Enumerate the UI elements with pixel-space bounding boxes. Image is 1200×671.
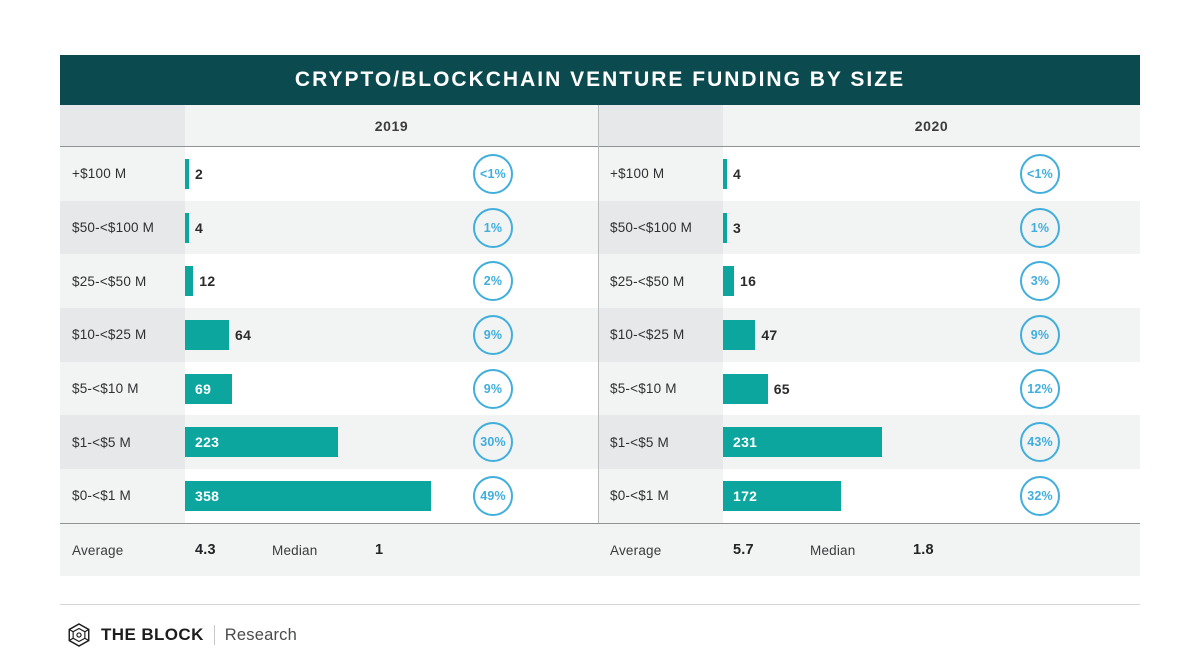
footer-divider xyxy=(60,604,1140,605)
row-label-cell: $10-<$25 M xyxy=(60,308,185,362)
row-label-cell: $1-<$5 M xyxy=(60,415,185,469)
table-row: $25-<$50 M122% xyxy=(60,254,598,308)
bar-value: 4 xyxy=(195,220,203,236)
table-row: $5-<$10 M699% xyxy=(60,362,598,416)
median-value-2020: 1.8 xyxy=(913,542,934,558)
row-label-cell: +$100 M xyxy=(598,147,723,201)
row-bar-cell: 699% xyxy=(185,362,598,416)
table-row: +$100 M4<1% xyxy=(598,147,1140,201)
row-label-cell: +$100 M xyxy=(60,147,185,201)
summary-2020: Average 5.7 Median 1.8 xyxy=(598,524,1140,576)
row-bar-cell: 6512% xyxy=(723,362,1140,416)
percentage-label: 49% xyxy=(480,489,506,503)
row-label: $25-<$50 M xyxy=(72,274,146,289)
year-header-2019: 2019 xyxy=(60,105,598,146)
percentage-label: 1% xyxy=(484,221,502,235)
bar-value: 3 xyxy=(733,220,741,236)
percentage-badge: 1% xyxy=(1020,208,1060,248)
year-label-2019: 2019 xyxy=(375,118,409,134)
percentage-label: 9% xyxy=(484,328,502,342)
table-row: $10-<$25 M649% xyxy=(60,308,598,362)
table-row: $1-<$5 M22330% xyxy=(60,415,598,469)
bar xyxy=(723,374,768,404)
table-row: $25-<$50 M163% xyxy=(598,254,1140,308)
table-row: $5-<$10 M6512% xyxy=(598,362,1140,416)
row-bar-cell: 4<1% xyxy=(723,147,1140,201)
row-bar-cell: 122% xyxy=(185,254,598,308)
hexagon-cube-icon xyxy=(66,622,92,648)
brand-name: THE BLOCK xyxy=(101,625,204,645)
row-label-cell: $1-<$5 M xyxy=(598,415,723,469)
percentage-label: 2% xyxy=(484,274,502,288)
brand-separator xyxy=(214,625,215,645)
bar xyxy=(185,266,193,296)
year-header-row: 2019 2020 xyxy=(60,105,1140,146)
percentage-badge: 32% xyxy=(1020,476,1060,516)
percentage-badge: 30% xyxy=(473,422,513,462)
row-label-cell: $50-<$100 M xyxy=(60,201,185,255)
chart-panels: +$100 M2<1%$50-<$100 M41%$25-<$50 M122%$… xyxy=(60,147,1140,523)
summary-row: Average 4.3 Median 1 Average 5.7 Median … xyxy=(60,524,1140,576)
percentage-badge: 12% xyxy=(1020,369,1060,409)
percentage-label: 3% xyxy=(1031,274,1049,288)
bar: 172 xyxy=(723,481,841,511)
summary-2019: Average 4.3 Median 1 xyxy=(60,524,598,576)
row-label-cell: $10-<$25 M xyxy=(598,308,723,362)
table-row: $50-<$100 M41% xyxy=(60,201,598,255)
bar-value: 16 xyxy=(740,273,756,289)
row-bar-cell: 163% xyxy=(723,254,1140,308)
row-label: $1-<$5 M xyxy=(72,435,131,450)
row-label: +$100 M xyxy=(72,166,126,181)
row-label: $1-<$5 M xyxy=(610,435,669,450)
table-row: $0-<$1 M17232% xyxy=(598,469,1140,523)
percentage-label: <1% xyxy=(1027,167,1053,181)
bar-value: 231 xyxy=(723,434,757,450)
brand-subtitle: Research xyxy=(225,626,297,645)
table-row: $1-<$5 M23143% xyxy=(598,415,1140,469)
row-bar-cell: 17232% xyxy=(723,469,1140,523)
bar-value: 47 xyxy=(761,327,777,343)
percentage-badge: 9% xyxy=(1020,315,1060,355)
panel-2019: +$100 M2<1%$50-<$100 M41%$25-<$50 M122%$… xyxy=(60,147,598,523)
row-label: $0-<$1 M xyxy=(72,488,131,503)
median-label-2020: Median xyxy=(810,543,855,558)
table-row: +$100 M2<1% xyxy=(60,147,598,201)
row-label-cell: $25-<$50 M xyxy=(598,254,723,308)
percentage-badge: 43% xyxy=(1020,422,1060,462)
median-value-2019: 1 xyxy=(375,542,383,558)
percentage-label: 30% xyxy=(480,435,506,449)
table-row: $50-<$100 M31% xyxy=(598,201,1140,255)
percentage-label: 9% xyxy=(1031,328,1049,342)
row-bar-cell: 2<1% xyxy=(185,147,598,201)
table-row: $0-<$1 M35849% xyxy=(60,469,598,523)
row-label: $50-<$100 M xyxy=(72,220,154,235)
page-title: CRYPTO/BLOCKCHAIN VENTURE FUNDING BY SIZ… xyxy=(295,68,905,92)
row-bar-cell: 35849% xyxy=(185,469,598,523)
table-row: $10-<$25 M479% xyxy=(598,308,1140,362)
chart-title-bar: CRYPTO/BLOCKCHAIN VENTURE FUNDING BY SIZ… xyxy=(60,55,1140,105)
percentage-label: <1% xyxy=(480,167,506,181)
year-label-2020: 2020 xyxy=(915,118,949,134)
panel-2020: +$100 M4<1%$50-<$100 M31%$25-<$50 M163%$… xyxy=(598,147,1140,523)
bar xyxy=(723,266,734,296)
panel-divider xyxy=(598,105,599,523)
row-label-cell: $0-<$1 M xyxy=(60,469,185,523)
bar-value: 69 xyxy=(185,381,211,397)
row-label: $0-<$1 M xyxy=(610,488,669,503)
percentage-label: 32% xyxy=(1027,489,1053,503)
percentage-label: 43% xyxy=(1027,435,1053,449)
row-bar-cell: 22330% xyxy=(185,415,598,469)
percentage-badge: 3% xyxy=(1020,261,1060,301)
bar xyxy=(723,213,727,243)
row-label-cell: $5-<$10 M xyxy=(598,362,723,416)
row-bar-cell: 31% xyxy=(723,201,1140,255)
bar-value: 2 xyxy=(195,166,203,182)
year-header-spacer-right xyxy=(598,105,723,146)
year-header-field-left: 2019 xyxy=(185,105,598,146)
row-label: $10-<$25 M xyxy=(610,327,684,342)
bar xyxy=(185,159,189,189)
year-header-field-right: 2020 xyxy=(723,105,1140,146)
row-label: $10-<$25 M xyxy=(72,327,146,342)
bar-value: 172 xyxy=(723,488,757,504)
year-header-spacer-left xyxy=(60,105,185,146)
bar-value: 65 xyxy=(774,381,790,397)
percentage-badge: 9% xyxy=(473,369,513,409)
row-label: $25-<$50 M xyxy=(610,274,684,289)
average-value-2019: 4.3 xyxy=(195,542,216,558)
average-label-2020: Average xyxy=(610,543,661,558)
row-label-cell: $5-<$10 M xyxy=(60,362,185,416)
row-label: $5-<$10 M xyxy=(72,381,139,396)
bar-value: 64 xyxy=(235,327,251,343)
bar-value: 4 xyxy=(733,166,741,182)
bar-value: 12 xyxy=(199,273,215,289)
average-value-2020: 5.7 xyxy=(733,542,754,558)
row-label: $50-<$100 M xyxy=(610,220,692,235)
bar-value: 358 xyxy=(185,488,219,504)
row-label: $5-<$10 M xyxy=(610,381,677,396)
brand-footer: THE BLOCK Research xyxy=(66,620,297,650)
row-bar-cell: 479% xyxy=(723,308,1140,362)
percentage-label: 12% xyxy=(1027,382,1053,396)
percentage-label: 9% xyxy=(484,382,502,396)
bar: 231 xyxy=(723,427,882,457)
row-bar-cell: 649% xyxy=(185,308,598,362)
bar xyxy=(185,320,229,350)
row-label: +$100 M xyxy=(610,166,664,181)
percentage-badge: 49% xyxy=(473,476,513,516)
percentage-badge: 9% xyxy=(473,315,513,355)
bar-value: 223 xyxy=(185,434,219,450)
chart-page: CRYPTO/BLOCKCHAIN VENTURE FUNDING BY SIZ… xyxy=(0,0,1200,671)
bar xyxy=(185,213,189,243)
row-bar-cell: 23143% xyxy=(723,415,1140,469)
bar xyxy=(723,320,755,350)
bar: 69 xyxy=(185,374,232,404)
percentage-badge: 2% xyxy=(473,261,513,301)
percentage-label: 1% xyxy=(1031,221,1049,235)
bar: 358 xyxy=(185,481,431,511)
row-label-cell: $0-<$1 M xyxy=(598,469,723,523)
year-header-2020: 2020 xyxy=(598,105,1140,146)
percentage-badge: 1% xyxy=(473,208,513,248)
percentage-badge: <1% xyxy=(1020,154,1060,194)
median-label-2019: Median xyxy=(272,543,317,558)
row-bar-cell: 41% xyxy=(185,201,598,255)
average-label-2019: Average xyxy=(72,543,123,558)
row-label-cell: $50-<$100 M xyxy=(598,201,723,255)
row-label-cell: $25-<$50 M xyxy=(60,254,185,308)
bar xyxy=(723,159,727,189)
percentage-badge: <1% xyxy=(473,154,513,194)
bar: 223 xyxy=(185,427,338,457)
